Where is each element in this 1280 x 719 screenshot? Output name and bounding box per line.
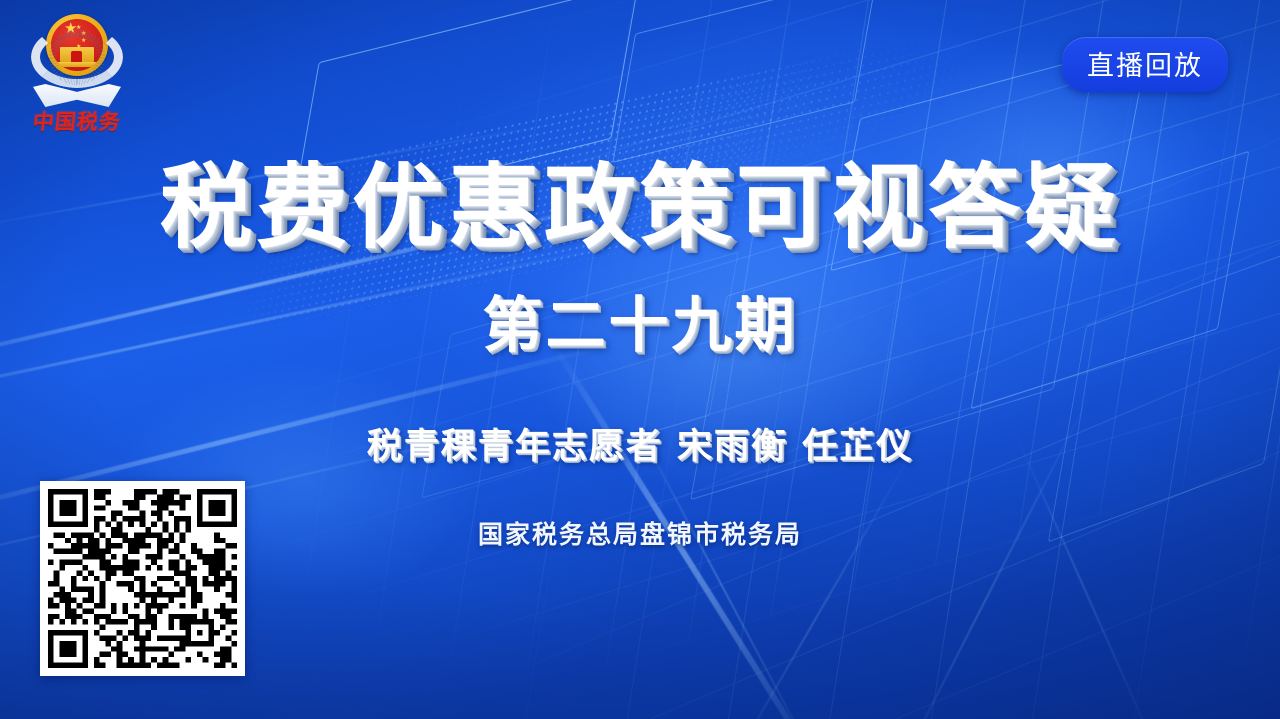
qr-code-canvas — [48, 489, 237, 668]
episode-subtitle: 第二十九期 — [0, 296, 1280, 356]
circuit-rect-6 — [1048, 248, 1280, 543]
presenters-line: 税青稞青年志愿者 宋雨衡 任芷仪 — [0, 430, 1280, 465]
china-tax-emblem-icon: ★ ★ ★ ★ ★ — [29, 12, 125, 104]
live-replay-badge[interactable]: 直播回放 — [1062, 37, 1228, 92]
page-title: 税费优惠政策可视答疑 — [0, 162, 1280, 254]
light-streak-9 — [719, 437, 920, 719]
china-tax-logo: ★ ★ ★ ★ ★ 中国税务 — [16, 12, 138, 144]
circuit-rect-2 — [612, 0, 877, 163]
poster-stage: ★ ★ ★ ★ ★ 中国税务 直播回放 税费优惠政策可视答疑 第二十九期 税青稞… — [0, 0, 1280, 719]
light-streak-10 — [1012, 427, 1168, 719]
qr-code[interactable] — [40, 481, 245, 676]
emblem-wheat-wreath — [31, 26, 123, 88]
logo-text: 中国税务 — [14, 106, 139, 136]
